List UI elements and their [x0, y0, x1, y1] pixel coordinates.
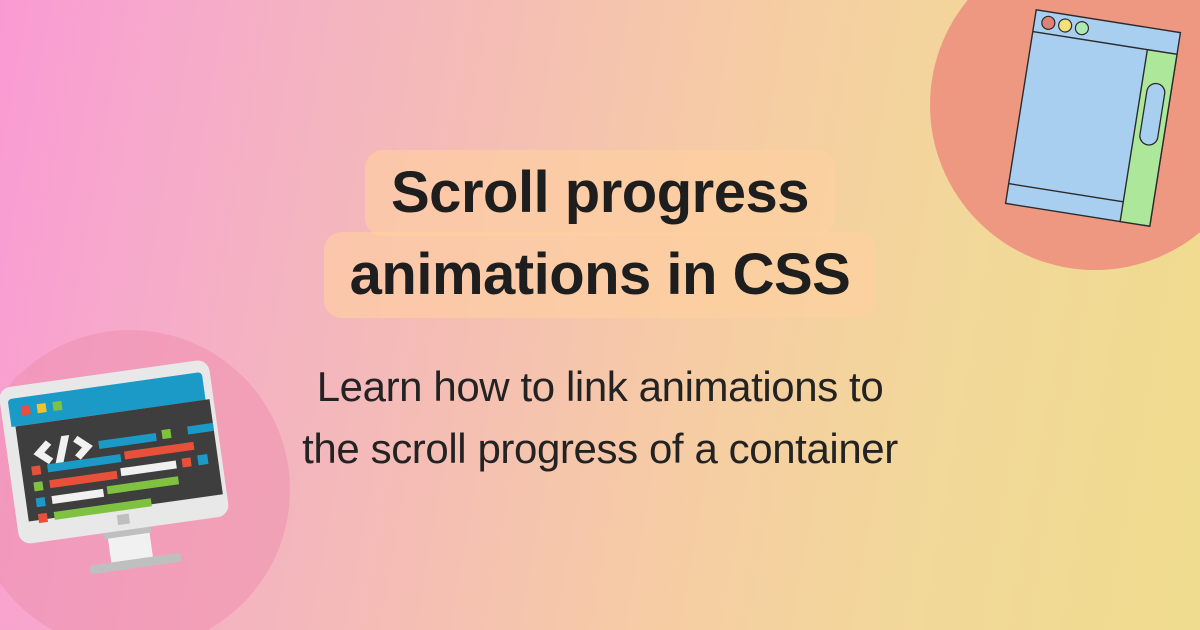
page-subtitle: Learn how to link animations to the scro…: [302, 356, 898, 480]
subtitle-line-1: Learn how to link animations to: [302, 356, 898, 418]
page-title: Scroll progress animations in CSS: [324, 150, 877, 318]
social-card: Scroll progress animations in CSS Learn …: [0, 0, 1200, 630]
title-line-1: Scroll progress: [365, 150, 835, 236]
text-content: Scroll progress animations in CSS Learn …: [0, 0, 1200, 630]
subtitle-line-2: the scroll progress of a container: [302, 418, 898, 480]
title-line-2: animations in CSS: [324, 232, 877, 318]
